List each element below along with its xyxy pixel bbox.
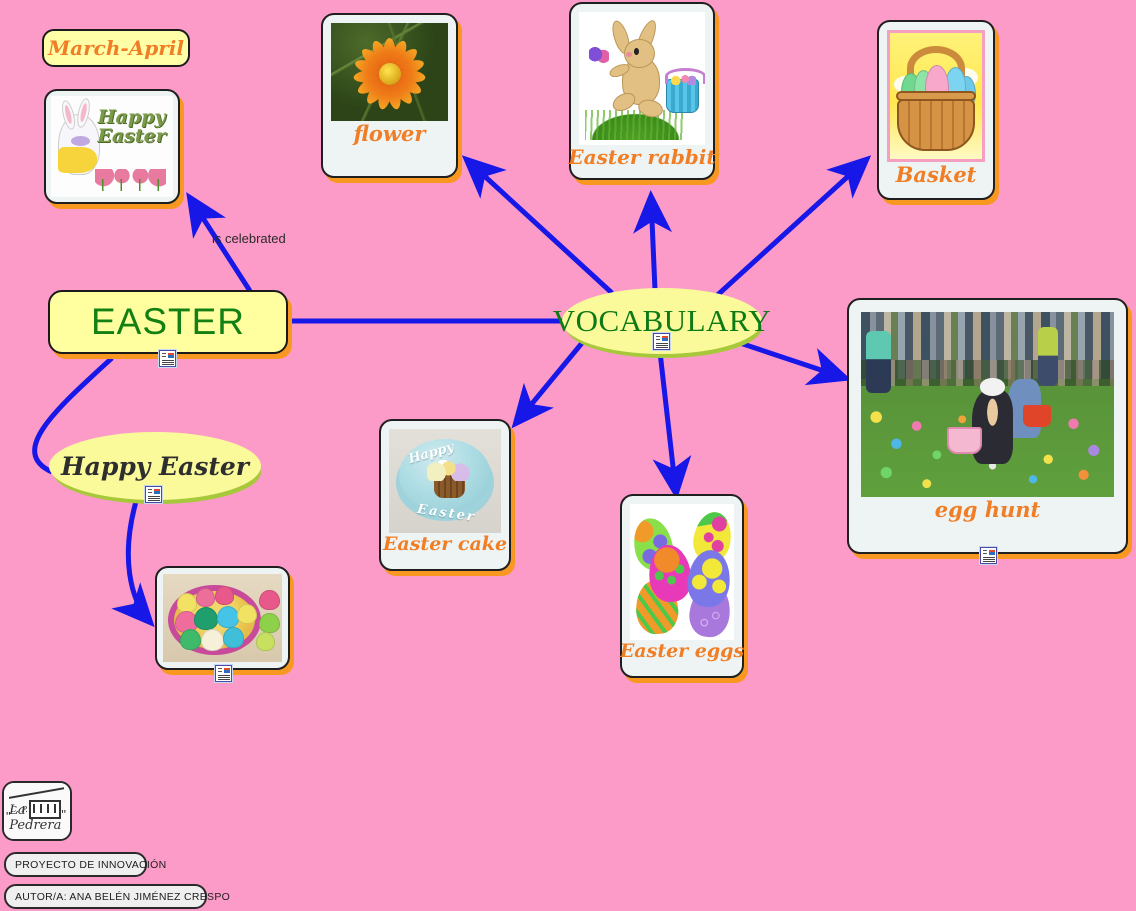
edge-vocab-to-egghunt — [722, 337, 845, 378]
logo-quote-close: " — [61, 807, 66, 822]
happy-easter-label: Happy Easter — [61, 452, 249, 481]
flower-caption: flower — [354, 123, 426, 145]
mind-map-canvas: March-April Happy Easter EASTER Hap — [0, 0, 1136, 911]
card-happy-easter-clipart[interactable]: Happy Easter — [44, 89, 180, 204]
flower-image — [331, 23, 448, 121]
season-label: March-April — [48, 36, 184, 60]
clipart-text-line2: Easter — [97, 125, 165, 147]
author-credit-label: AUTOR/A: ANA BELÉN JIMÉNEZ CRESPO — [15, 891, 230, 903]
project-credit-label: PROYECTO DE INNOVACIÓN — [15, 859, 166, 871]
note-icon-happy-easter[interactable] — [145, 486, 162, 503]
happy-easter-clipart-image: Happy Easter — [51, 96, 173, 197]
note-icon-egg-hunt[interactable] — [980, 547, 997, 564]
school-logo[interactable]: C. P. " La Pedrera " — [2, 781, 72, 841]
basket-caption: Basket — [896, 164, 977, 186]
egg-hunt-caption: egg hunt — [935, 499, 1041, 521]
note-icon-eggs-basket[interactable] — [215, 665, 232, 682]
note-icon-vocabulary[interactable] — [653, 333, 670, 350]
easter-eggs-image — [630, 504, 734, 640]
basket-image — [887, 30, 985, 162]
easter-label: EASTER — [91, 301, 245, 343]
easter-rabbit-image — [579, 12, 705, 145]
card-easter-rabbit[interactable]: Easter rabbit — [569, 2, 715, 180]
egg-hunt-image — [861, 312, 1114, 497]
easter-cake-image: Happy Easter — [389, 429, 501, 533]
edge-vocab-to-eggs — [660, 352, 676, 493]
card-easter-eggs[interactable]: Easter eggs — [620, 494, 744, 678]
project-credit[interactable]: PROYECTO DE INNOVACIÓN — [4, 852, 147, 877]
card-flower[interactable]: flower — [321, 13, 458, 178]
card-egg-hunt[interactable]: egg hunt — [847, 298, 1128, 554]
note-icon-easter[interactable] — [159, 350, 176, 367]
edge-vocab-to-cake — [516, 343, 582, 423]
edge-greeting-to-eggsbasket — [128, 498, 150, 622]
easter-cake-caption: Easter cake — [383, 535, 507, 555]
edge-vocab-to-basket — [712, 160, 866, 300]
card-eggs-basket[interactable] — [155, 566, 290, 670]
edge-label-is-celebrated: is celebrated — [212, 231, 286, 246]
card-easter-cake[interactable]: Happy Easter Easter cake — [379, 419, 511, 571]
edge-vocab-to-rabbit — [651, 197, 655, 290]
node-easter[interactable]: EASTER — [48, 290, 288, 354]
card-basket[interactable]: Basket — [877, 20, 995, 200]
eggs-basket-image — [163, 574, 282, 662]
node-season[interactable]: March-April — [42, 29, 190, 67]
easter-eggs-caption: Easter eggs — [620, 642, 744, 662]
easter-rabbit-caption: Easter rabbit — [568, 147, 715, 168]
author-credit[interactable]: AUTOR/A: ANA BELÉN JIMÉNEZ CRESPO — [4, 884, 207, 909]
